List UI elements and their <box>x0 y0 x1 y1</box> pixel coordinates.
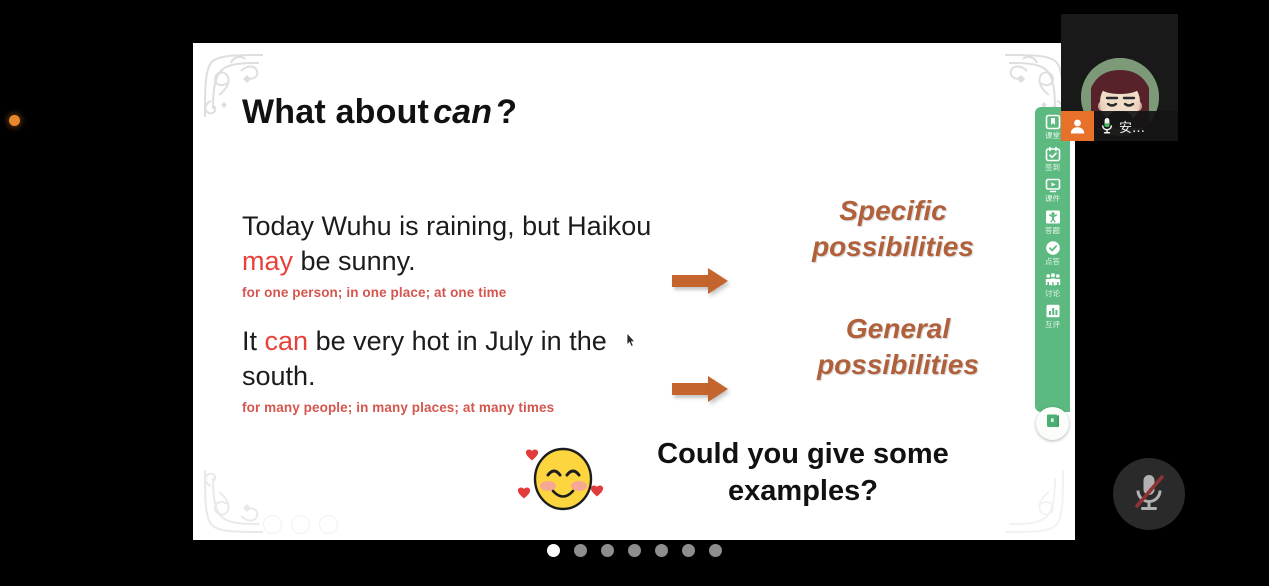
slide-pagination[interactable] <box>0 544 1269 557</box>
sidebar-item-courseware[interactable]: 课件 <box>1035 176 1070 203</box>
slide-ghost-toolbar <box>263 515 338 534</box>
result-label-1: Specific possibilities <box>773 193 1013 266</box>
left-status-dot <box>9 115 20 126</box>
pagination-dot-1[interactable] <box>547 544 560 557</box>
sidebar-label-discussion: 讨论 <box>1045 290 1060 298</box>
example-block-1: Today Wuhu is raining, but Haikou may be… <box>242 209 662 300</box>
sidebar-label-courseware: 课件 <box>1045 195 1060 203</box>
pagination-dot-2[interactable] <box>574 544 587 557</box>
sentence-1-highlight: may <box>242 246 293 276</box>
sidebar-label-checkin: 签到 <box>1045 164 1060 172</box>
sentence-1-after: be sunny. <box>293 246 416 276</box>
example-block-2: It can be very hot in July in the south.… <box>242 324 682 415</box>
class-tools-sidebar[interactable]: 课堂 签到 课件 答题 点答 讨论 互评 <box>1035 107 1070 412</box>
microphone-muted-icon <box>1129 470 1169 519</box>
microphone-icon <box>1100 117 1114 135</box>
sidebar-item-discussion[interactable]: 讨论 <box>1035 271 1070 298</box>
title-suffix: ? <box>496 93 517 131</box>
book-button[interactable] <box>1036 407 1069 440</box>
example-note-1: for one person; in one place; at one tim… <box>242 285 662 300</box>
mouse-cursor-icon <box>626 333 636 348</box>
person-icon <box>1061 111 1094 141</box>
video-tile-footer: 安… <box>1061 111 1178 141</box>
sentence-1-before: Today Wuhu is raining, but Haikou <box>242 211 651 241</box>
sidebar-label-answer: 答题 <box>1045 227 1060 235</box>
sidebar-item-peer-review[interactable]: 互评 <box>1035 302 1070 329</box>
sidebar-label-peer-review: 互评 <box>1045 321 1060 329</box>
checklist-icon <box>1044 145 1062 163</box>
ghost-icon-2 <box>291 515 310 534</box>
sidebar-label-classroom: 课堂 <box>1045 132 1060 140</box>
raise-hand-icon <box>1044 208 1062 226</box>
result-label-2: General possibilities <box>773 311 1023 384</box>
sidebar-item-point-answer[interactable]: 点答 <box>1035 239 1070 266</box>
presentation-slide[interactable]: What aboutcan? Today Wuhu is raining, bu… <box>193 43 1075 540</box>
pagination-dot-4[interactable] <box>628 544 641 557</box>
discussion-icon <box>1044 271 1062 289</box>
participant-video-tile[interactable]: 安… <box>1061 14 1178 141</box>
sentence-2-highlight: can <box>265 326 309 356</box>
sidebar-item-answer[interactable]: 答题 <box>1035 208 1070 235</box>
bar-chart-icon <box>1044 302 1062 320</box>
slide-question: Could you give some examples? <box>593 436 1013 510</box>
mute-button[interactable] <box>1113 458 1185 530</box>
pagination-dot-6[interactable] <box>682 544 695 557</box>
ghost-icon-3 <box>319 515 338 534</box>
slide-title: What aboutcan? <box>242 93 517 132</box>
pagination-dot-5[interactable] <box>655 544 668 557</box>
title-emphasis: can <box>429 93 496 131</box>
pagination-dot-3[interactable] <box>601 544 614 557</box>
right-arrow-icon-1 <box>672 268 730 294</box>
example-sentence-2: It can be very hot in July in the south. <box>242 324 682 393</box>
sidebar-label-point-answer: 点答 <box>1045 258 1060 266</box>
right-arrow-icon-2 <box>672 376 730 402</box>
sidebar-item-checkin[interactable]: 签到 <box>1035 145 1070 172</box>
participant-name: 安… <box>1119 117 1145 136</box>
title-prefix: What about <box>242 93 429 131</box>
slides-icon <box>1044 176 1062 194</box>
example-note-2: for many people; in many places; at many… <box>242 400 682 415</box>
book-icon <box>1044 412 1062 435</box>
bookmark-icon <box>1044 113 1062 131</box>
check-circle-icon <box>1044 239 1062 257</box>
example-sentence-1: Today Wuhu is raining, but Haikou may be… <box>242 209 662 278</box>
ghost-icon-1 <box>263 515 282 534</box>
sentence-2-before: It <box>242 326 265 356</box>
pagination-dot-7[interactable] <box>709 544 722 557</box>
